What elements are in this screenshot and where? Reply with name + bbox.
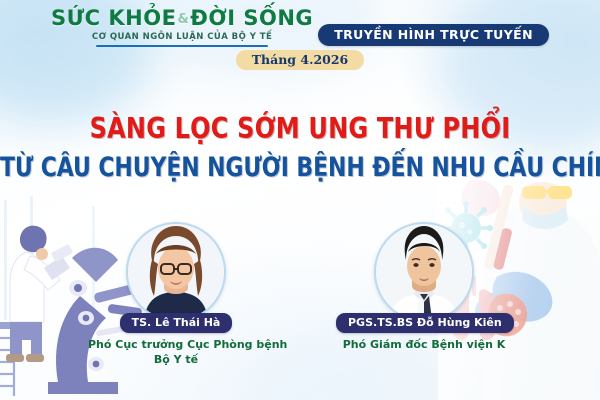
speaker-list: TS. Lê Thái Hà Phó Cục trưởng Cục Phòng … — [0, 222, 600, 368]
speaker-2-role: Phó Giám đốc Bệnh viện K — [336, 338, 512, 353]
avatar-speaker-2 — [374, 222, 474, 322]
speaker-2-role-line1: Phó Giám đốc Bệnh viện K — [343, 338, 506, 351]
live-broadcast-badge: TRUYỀN HÌNH TRỰC TUYẾN — [318, 24, 549, 46]
speaker-2-name: PGS.TS.BS Đỗ Hùng Kiên — [336, 313, 514, 333]
date-badge: Tháng 4.2026 — [236, 50, 365, 70]
brand-tagline: CƠ QUAN NGÔN LUẬN CỦA BỘ Y TẾ — [51, 32, 313, 42]
speaker-1-role-line1: Phó Cục trưởng Cục Phòng bệnh — [88, 338, 287, 351]
speaker-1-name: TS. Lê Thái Hà — [120, 313, 233, 333]
speaker-1-role-line2: Bộ Y tế — [88, 353, 264, 368]
brand-header: SỨC KHỎE&ĐỜI SỐNG CƠ QUAN NGÔN LUẬN CỦA … — [0, 8, 600, 70]
speaker-card-2: PGS.TS.BS Đỗ Hùng Kiên Phó Giám đốc Bệnh… — [336, 222, 512, 368]
brand-title-part2: ĐỜI SỐNG — [190, 6, 313, 30]
headline-primary: SÀNG LỌC SỚM UNG THƯ PHỔI — [0, 112, 600, 145]
brand-title-part1: SỨC KHỎE — [51, 6, 176, 30]
headline-secondary: TỪ CÂU CHUYỆN NGƯỜI BỆNH ĐẾN NHU CẦU CHÍ… — [0, 153, 600, 183]
brand-title: SỨC KHỎE&ĐỜI SỐNG — [51, 8, 313, 29]
avatar-speaker-1 — [126, 222, 226, 322]
brand-ampersand: & — [176, 12, 190, 27]
brand-logo: SỨC KHỎE&ĐỜI SỐNG CƠ QUAN NGÔN LUẬN CỦA … — [51, 8, 313, 47]
brand-divider — [96, 45, 268, 47]
speaker-1-role: Phó Cục trưởng Cục Phòng bệnh Bộ Y tế — [88, 338, 264, 368]
speaker-card-1: TS. Lê Thái Hà Phó Cục trưởng Cục Phòng … — [88, 222, 264, 368]
poster-canvas: SỨC KHỎE&ĐỜI SỐNG CƠ QUAN NGÔN LUẬN CỦA … — [0, 0, 600, 400]
